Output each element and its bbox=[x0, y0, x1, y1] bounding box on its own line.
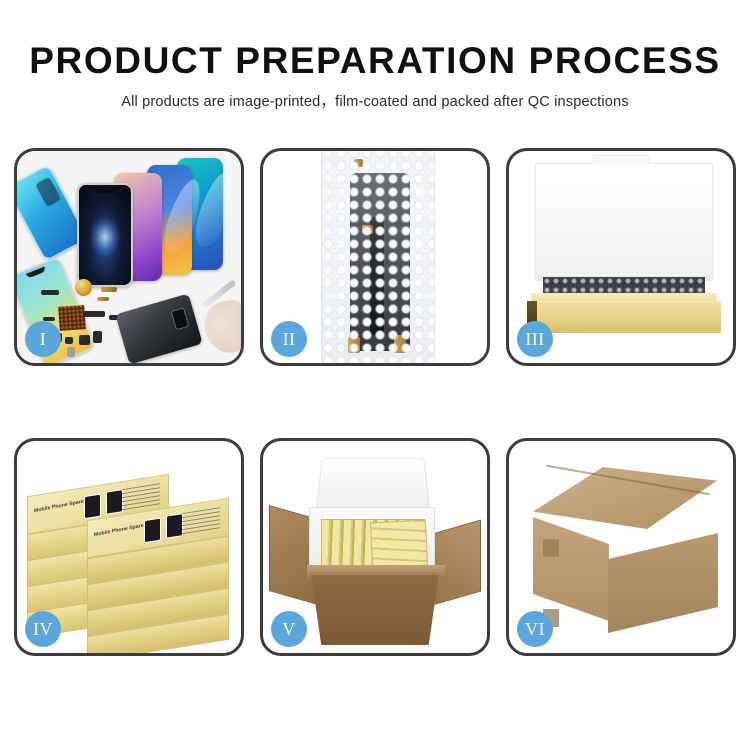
step-panel-4[interactable]: Mobile Phone Spare Parts Mobile Phone Sp… bbox=[14, 438, 244, 656]
step-4-image: Mobile Phone Spare Parts Mobile Phone Sp… bbox=[17, 441, 241, 653]
small-part-chip bbox=[65, 337, 73, 344]
box-product-thumbnail bbox=[106, 489, 123, 515]
step-panel-5[interactable]: V bbox=[260, 438, 490, 656]
step-1-image: I bbox=[17, 151, 241, 363]
step-panel-1[interactable]: I bbox=[14, 148, 244, 366]
bubble-highlight-overlay bbox=[322, 151, 434, 363]
step-badge-3: III bbox=[517, 321, 553, 357]
small-part-chip bbox=[93, 331, 102, 343]
gold-coil-part bbox=[75, 279, 92, 296]
page-title: PRODUCT PREPARATION PROCESS bbox=[0, 0, 750, 81]
step-6-image: VI bbox=[509, 441, 733, 653]
step-badge-2: II bbox=[271, 321, 307, 357]
box-product-thumbnail bbox=[144, 518, 161, 544]
carton-left-face bbox=[533, 517, 609, 621]
step-5-image: V bbox=[263, 441, 487, 653]
process-steps-grid: I II bbox=[14, 148, 736, 693]
foam-box-lid bbox=[316, 458, 430, 511]
logic-board-part bbox=[58, 305, 86, 331]
step-badge-1: I bbox=[25, 321, 61, 357]
small-part-connector bbox=[97, 297, 109, 301]
lid-tab bbox=[593, 155, 649, 164]
small-part-connector bbox=[101, 287, 117, 292]
carton-front bbox=[311, 573, 439, 645]
step-badge-5: V bbox=[271, 611, 307, 647]
carton-top-face bbox=[533, 467, 717, 529]
step-panel-3[interactable]: III bbox=[506, 148, 736, 366]
page-subtitle: All products are image-printed，film-coat… bbox=[0, 81, 750, 111]
box-spec-lines bbox=[182, 507, 220, 537]
small-part-flex bbox=[83, 311, 105, 317]
white-box-lid bbox=[535, 163, 713, 281]
step-panel-6[interactable]: VI bbox=[506, 438, 736, 656]
carton-flap-right bbox=[429, 520, 481, 607]
step-badge-4: IV bbox=[25, 611, 61, 647]
step-panel-2[interactable]: II bbox=[260, 148, 490, 366]
bubble-wrap-bag bbox=[321, 151, 435, 363]
small-part-chip bbox=[41, 290, 59, 295]
packed-yellow-boxes bbox=[370, 520, 428, 569]
step-2-image: II bbox=[263, 151, 487, 363]
small-part-sim-tray bbox=[67, 347, 75, 357]
product-preparation-infographic: PRODUCT PREPARATION PROCESS All products… bbox=[0, 0, 750, 750]
carton-tape-patch bbox=[543, 539, 559, 557]
carton-right-face bbox=[608, 533, 718, 633]
box-product-thumbnail bbox=[84, 494, 101, 520]
step-3-image: III bbox=[509, 151, 733, 363]
black-screen-panel-photo bbox=[77, 183, 133, 287]
yellow-box-front bbox=[527, 301, 721, 333]
header: PRODUCT PREPARATION PROCESS All products… bbox=[0, 0, 750, 111]
box-product-thumbnail bbox=[166, 513, 183, 539]
small-part-chip bbox=[79, 335, 90, 345]
step-badge-6: VI bbox=[517, 611, 553, 647]
